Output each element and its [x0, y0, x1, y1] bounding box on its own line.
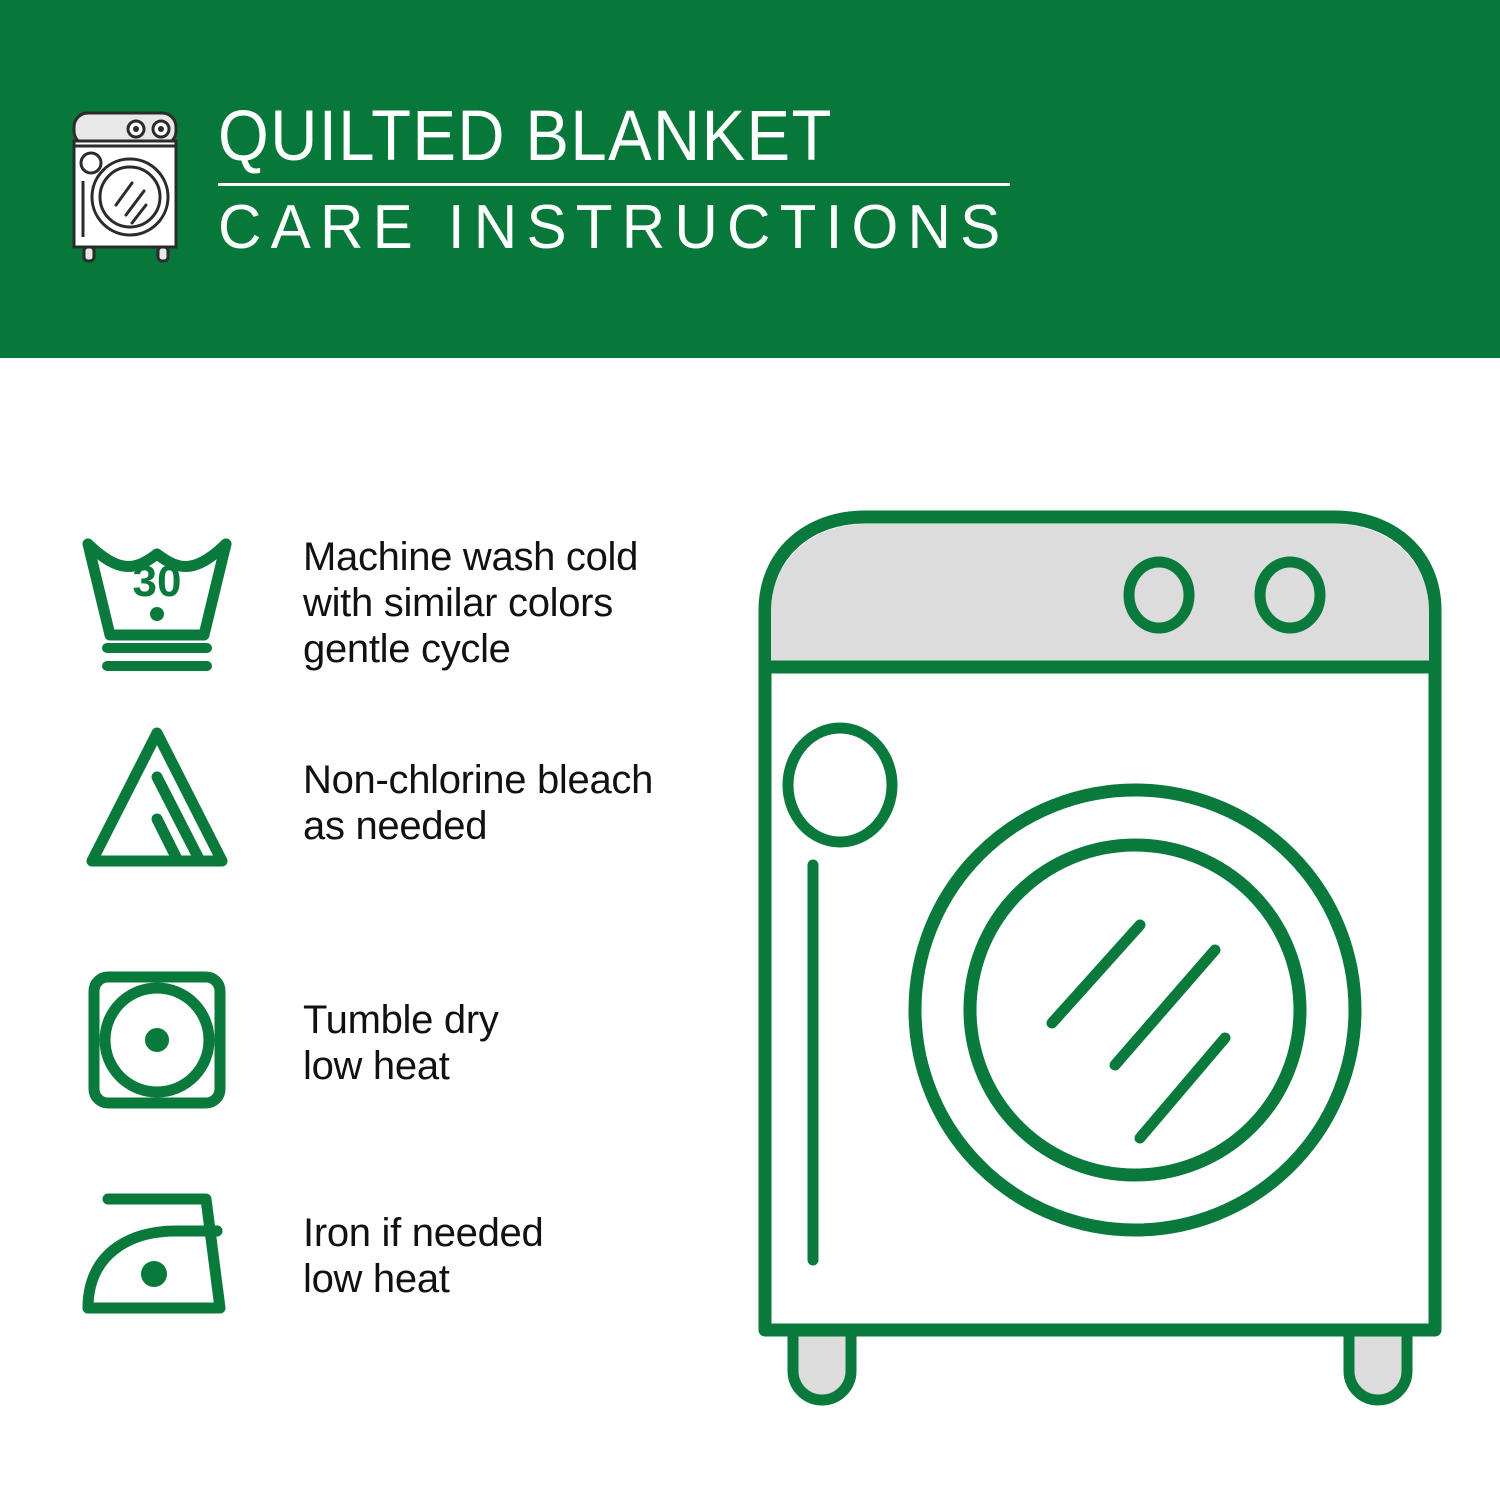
care-line: with similar colors — [303, 580, 713, 626]
non-chlorine-bleach-triangle-icon — [72, 715, 242, 885]
care-line: as needed — [303, 803, 713, 849]
wash-tub-30-gentle-icon: 30 — [72, 510, 242, 680]
control-panel — [771, 524, 1429, 665]
header-banner: QUILTED BLANKET CARE INSTRUCTIONS — [0, 0, 1500, 358]
header-title-group: QUILTED BLANKET CARE INSTRUCTIONS — [218, 97, 1018, 264]
wash-temperature-label: 30 — [133, 557, 182, 606]
care-line: Iron if needed — [303, 1210, 713, 1256]
care-item-iron: Iron if needed low heat — [0, 1172, 720, 1332]
detergent-drawer-circle — [788, 728, 892, 842]
title-divider — [218, 183, 1010, 186]
care-item-bleach: Non-chlorine bleach as needed — [0, 715, 720, 890]
care-item-text: Non-chlorine bleach as needed — [303, 757, 713, 849]
care-line: Machine wash cold — [303, 534, 713, 580]
care-item-machine-wash: 30 Machine wash cold with similar colors… — [0, 510, 720, 685]
care-item-text: Iron if needed low heat — [303, 1210, 713, 1302]
iron-low-heat-icon — [72, 1172, 242, 1342]
door-inner-ring — [970, 845, 1300, 1175]
care-item-text: Machine wash cold with similar colors ge… — [303, 534, 713, 672]
page-subtitle: CARE INSTRUCTIONS — [218, 192, 994, 264]
care-item-tumble-dry: Tumble dry low heat — [0, 955, 720, 1130]
care-item-text: Tumble dry low heat — [303, 997, 713, 1089]
front-load-washing-machine-illustration — [745, 495, 1455, 1425]
washing-machine-icon — [62, 105, 202, 265]
knob-right — [1260, 562, 1320, 628]
page-title: QUILTED BLANKET — [218, 97, 954, 177]
knob-left — [1129, 562, 1189, 628]
tumble-dry-low-heat-icon — [72, 955, 242, 1125]
care-line: low heat — [303, 1043, 713, 1089]
care-line: low heat — [303, 1256, 713, 1302]
care-line: Tumble dry — [303, 997, 713, 1043]
care-line: gentle cycle — [303, 626, 713, 672]
care-line: Non-chlorine bleach — [303, 757, 713, 803]
